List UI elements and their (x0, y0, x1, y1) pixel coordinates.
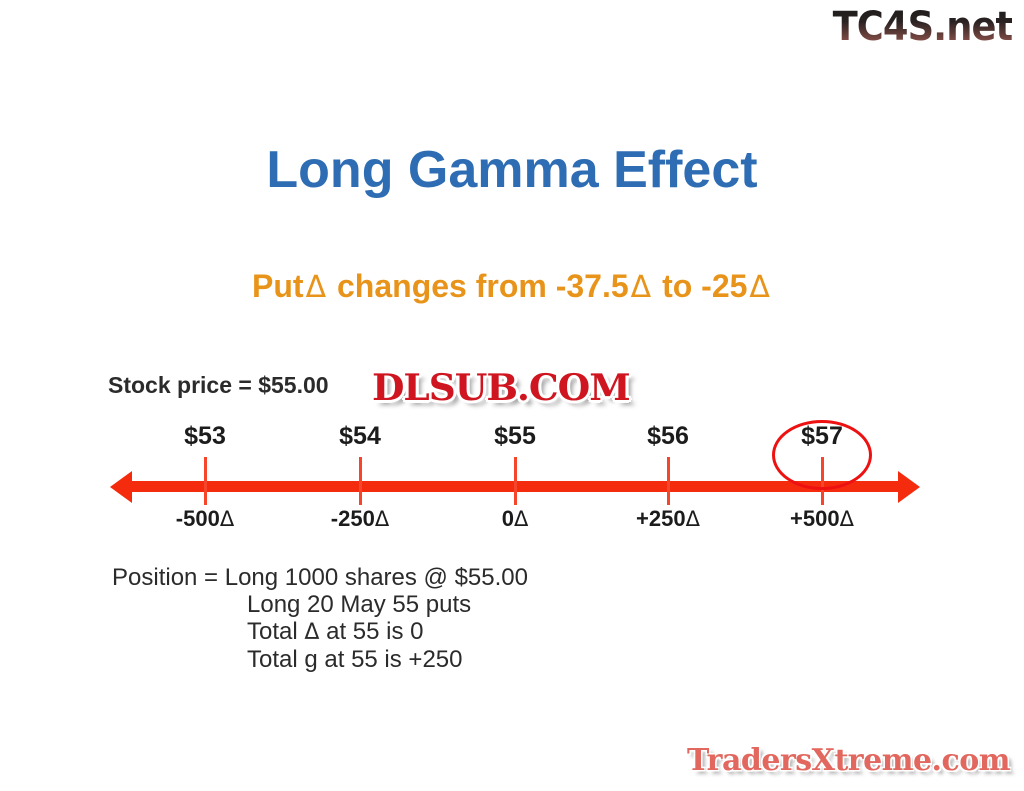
price-label: $55 (435, 421, 595, 451)
delta-icon: Δ (686, 507, 700, 531)
position-line-4: Total g at 55 is +250 (112, 646, 528, 673)
price-label: $53 (125, 421, 285, 451)
delta-number-line-chart: $53 -500Δ $54 -250Δ $55 0Δ $56 +250Δ $57… (0, 415, 1024, 550)
tick-mark (204, 457, 207, 505)
delta-label: -500Δ (125, 505, 285, 533)
axis-arrow-left-icon (110, 471, 132, 503)
subtitle-text-2: changes from -37.5 (337, 268, 629, 304)
tc4s-brand-logo: TC4S.net (832, 4, 1012, 50)
delta-label: -250Δ (280, 505, 440, 533)
delta-label: +500Δ (742, 505, 902, 533)
page-title: Long Gamma Effect (0, 140, 1024, 200)
price-label: $54 (280, 421, 440, 451)
delta-value: 0 (502, 506, 514, 531)
price-label: $56 (588, 421, 748, 451)
delta-icon: Δ (220, 507, 234, 531)
delta-value: -500 (176, 506, 220, 531)
position-line-1: Position = Long 1000 shares @ $55.00 (112, 564, 528, 591)
slide-subtitle: PutΔ changes from -37.5Δ to -25Δ (0, 266, 1024, 308)
highlight-circle-annotation (772, 420, 872, 490)
total-delta-text-pre: Total (247, 618, 298, 645)
delta-value: +500 (790, 506, 840, 531)
delta-label: 0Δ (435, 505, 595, 533)
delta-icon: Δ (514, 507, 528, 531)
dlsub-watermark: DLSUB.COM (372, 366, 630, 410)
stock-price-label: Stock price = $55.00 (108, 370, 329, 400)
delta-value: -250 (331, 506, 375, 531)
subtitle-text-3: to -25 (662, 268, 747, 304)
tradersxtreme-brand-logo: TradersXtreme.com (687, 743, 1010, 779)
position-details: Position = Long 1000 shares @ $55.00 Lon… (112, 564, 528, 673)
tick-mark (667, 457, 670, 505)
delta-icon: Δ (375, 507, 389, 531)
slide-canvas: TC4S.net Long Gamma Effect PutΔ changes … (0, 0, 1024, 791)
axis-arrow-right-icon (898, 471, 920, 503)
delta-icon: Δ (629, 270, 654, 305)
delta-value: +250 (636, 506, 686, 531)
position-line-3: Total Δ at 55 is 0 (112, 618, 528, 646)
total-delta-text-post: at 55 is 0 (326, 618, 423, 645)
subtitle-text-1: Put (252, 268, 304, 304)
delta-icon: Δ (304, 270, 329, 305)
position-line-2: Long 20 May 55 puts (112, 591, 528, 618)
delta-icon: Δ (747, 270, 772, 305)
tick-mark (359, 457, 362, 505)
tick-mark (514, 457, 517, 505)
delta-icon: Δ (304, 620, 319, 645)
delta-label: +250Δ (588, 505, 748, 533)
delta-icon: Δ (840, 507, 854, 531)
